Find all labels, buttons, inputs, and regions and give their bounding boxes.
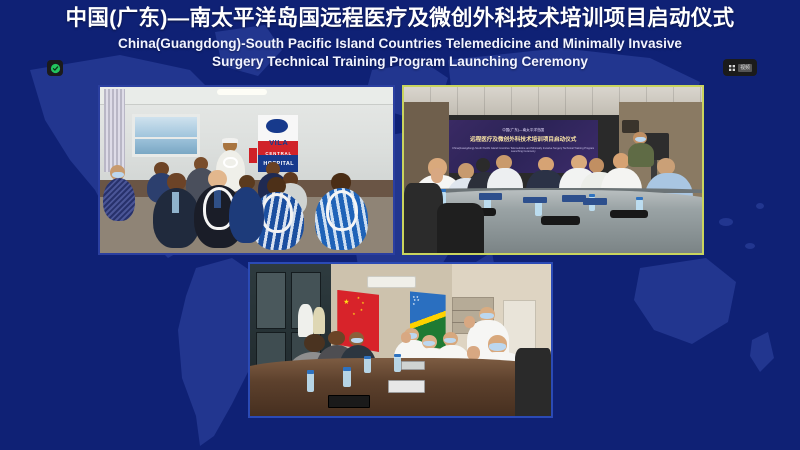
banner-line-2: CENTRAL: [260, 151, 298, 156]
green-shield-check-icon[interactable]: [47, 60, 63, 76]
backdrop-line-2: 远程医疗及微创外科技术培训项目启动仪式: [452, 135, 595, 143]
page-title-english-line2: Surgery Technical Training Program Launc…: [0, 53, 800, 71]
title-block: 中国(广东)—南太平洋岛国远程医疗及微创外科技术培训项目启动仪式 China(G…: [0, 4, 800, 70]
air-conditioner-icon: [367, 276, 415, 288]
grid-icon: [728, 64, 736, 72]
video-toolbar-chip[interactable]: 视频: [723, 59, 757, 76]
backdrop-line-1: 中国(广东)—南太平洋岛国: [452, 128, 595, 133]
slide-canvas: 中国(广东)—南太平洋岛国远程医疗及微创外科技术培训项目启动仪式 China(G…: [0, 0, 800, 450]
page-title-english-line1: China(Guangdong)-South Pacific Island Co…: [0, 35, 800, 53]
photo-vila-central-hospital[interactable]: VILA CENTRAL HOSPITAL: [98, 85, 395, 255]
page-title-chinese: 中国(广东)—南太平洋岛国远程医疗及微创外科技术培训项目启动仪式: [0, 4, 800, 32]
banner-line-1: VILA: [260, 138, 298, 147]
photo-guangdong-conference-room[interactable]: 中国(广东)—南太平洋岛国 远程医疗及微创外科技术培训项目启动仪式 China(…: [402, 85, 704, 255]
photo-solomon-islands-telemedicine-room[interactable]: ★ ★ ★ ★ ★ ★ ★ ★ ★★: [248, 262, 553, 418]
backdrop-line-3: China(Guangdong)-South Pacific Island Co…: [452, 147, 595, 154]
hospital-crest-icon: [266, 119, 288, 134]
video-chip-label: 视频: [738, 64, 752, 72]
